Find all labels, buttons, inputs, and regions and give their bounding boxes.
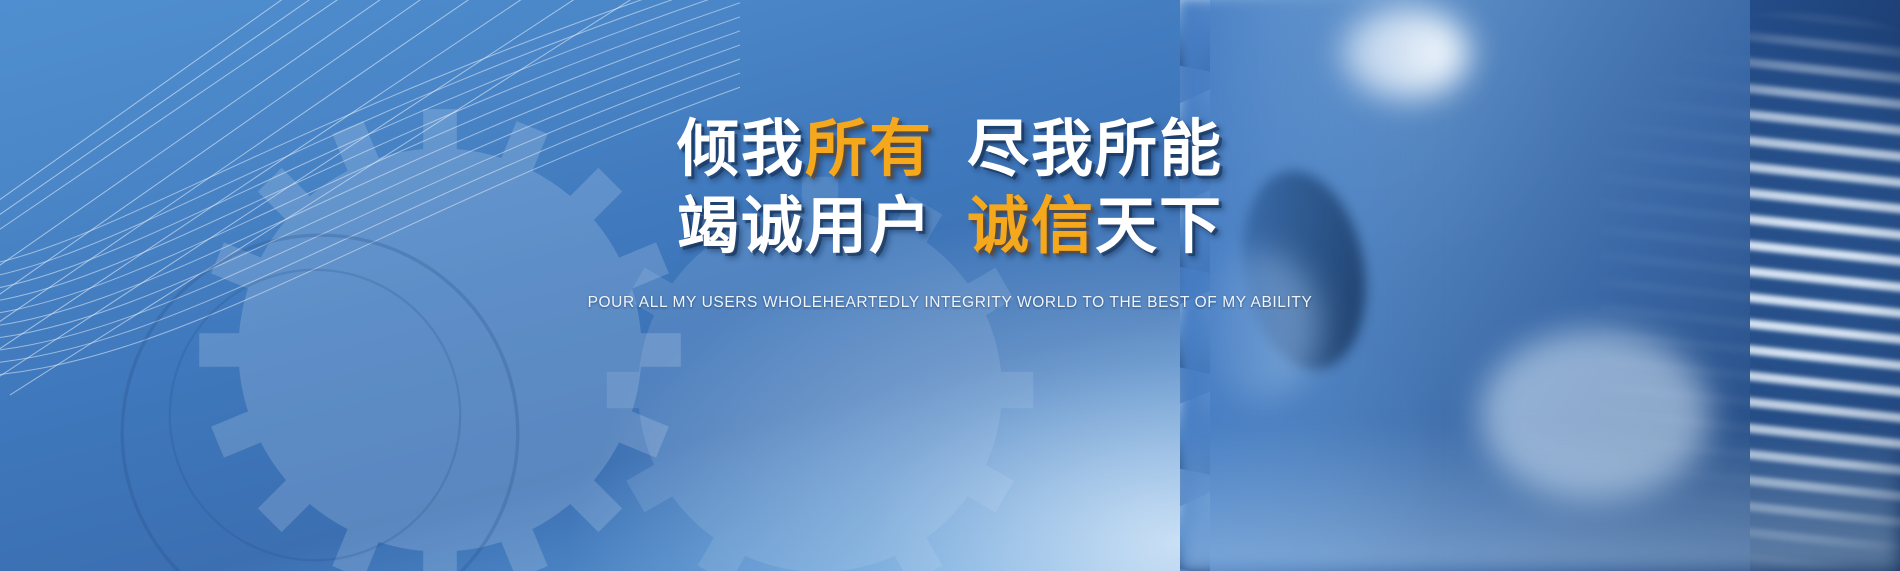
banner-copy: 倾我 所有 尽我所能 竭诚用户 诚信 天下 POUR ALL MY USERS … bbox=[0, 0, 1900, 571]
hero-banner: 倾我 所有 尽我所能 竭诚用户 诚信 天下 POUR ALL MY USERS … bbox=[0, 0, 1900, 571]
headline-segment-accent: 诚信 bbox=[967, 195, 1095, 258]
headline-segment: 倾我 bbox=[677, 118, 805, 181]
headline-line-2: 竭诚用户 诚信 天下 bbox=[677, 195, 1223, 258]
banner-subtitle: POUR ALL MY USERS WHOLEHEARTEDLY INTEGRI… bbox=[588, 294, 1313, 312]
headline-segment: 尽我所能 bbox=[967, 118, 1223, 181]
headline-line-1: 倾我 所有 尽我所能 bbox=[677, 118, 1223, 181]
headline-segment-accent: 所有 bbox=[805, 118, 933, 181]
headline-segment: 竭诚用户 bbox=[677, 195, 933, 258]
headline-segment: 天下 bbox=[1095, 195, 1223, 258]
